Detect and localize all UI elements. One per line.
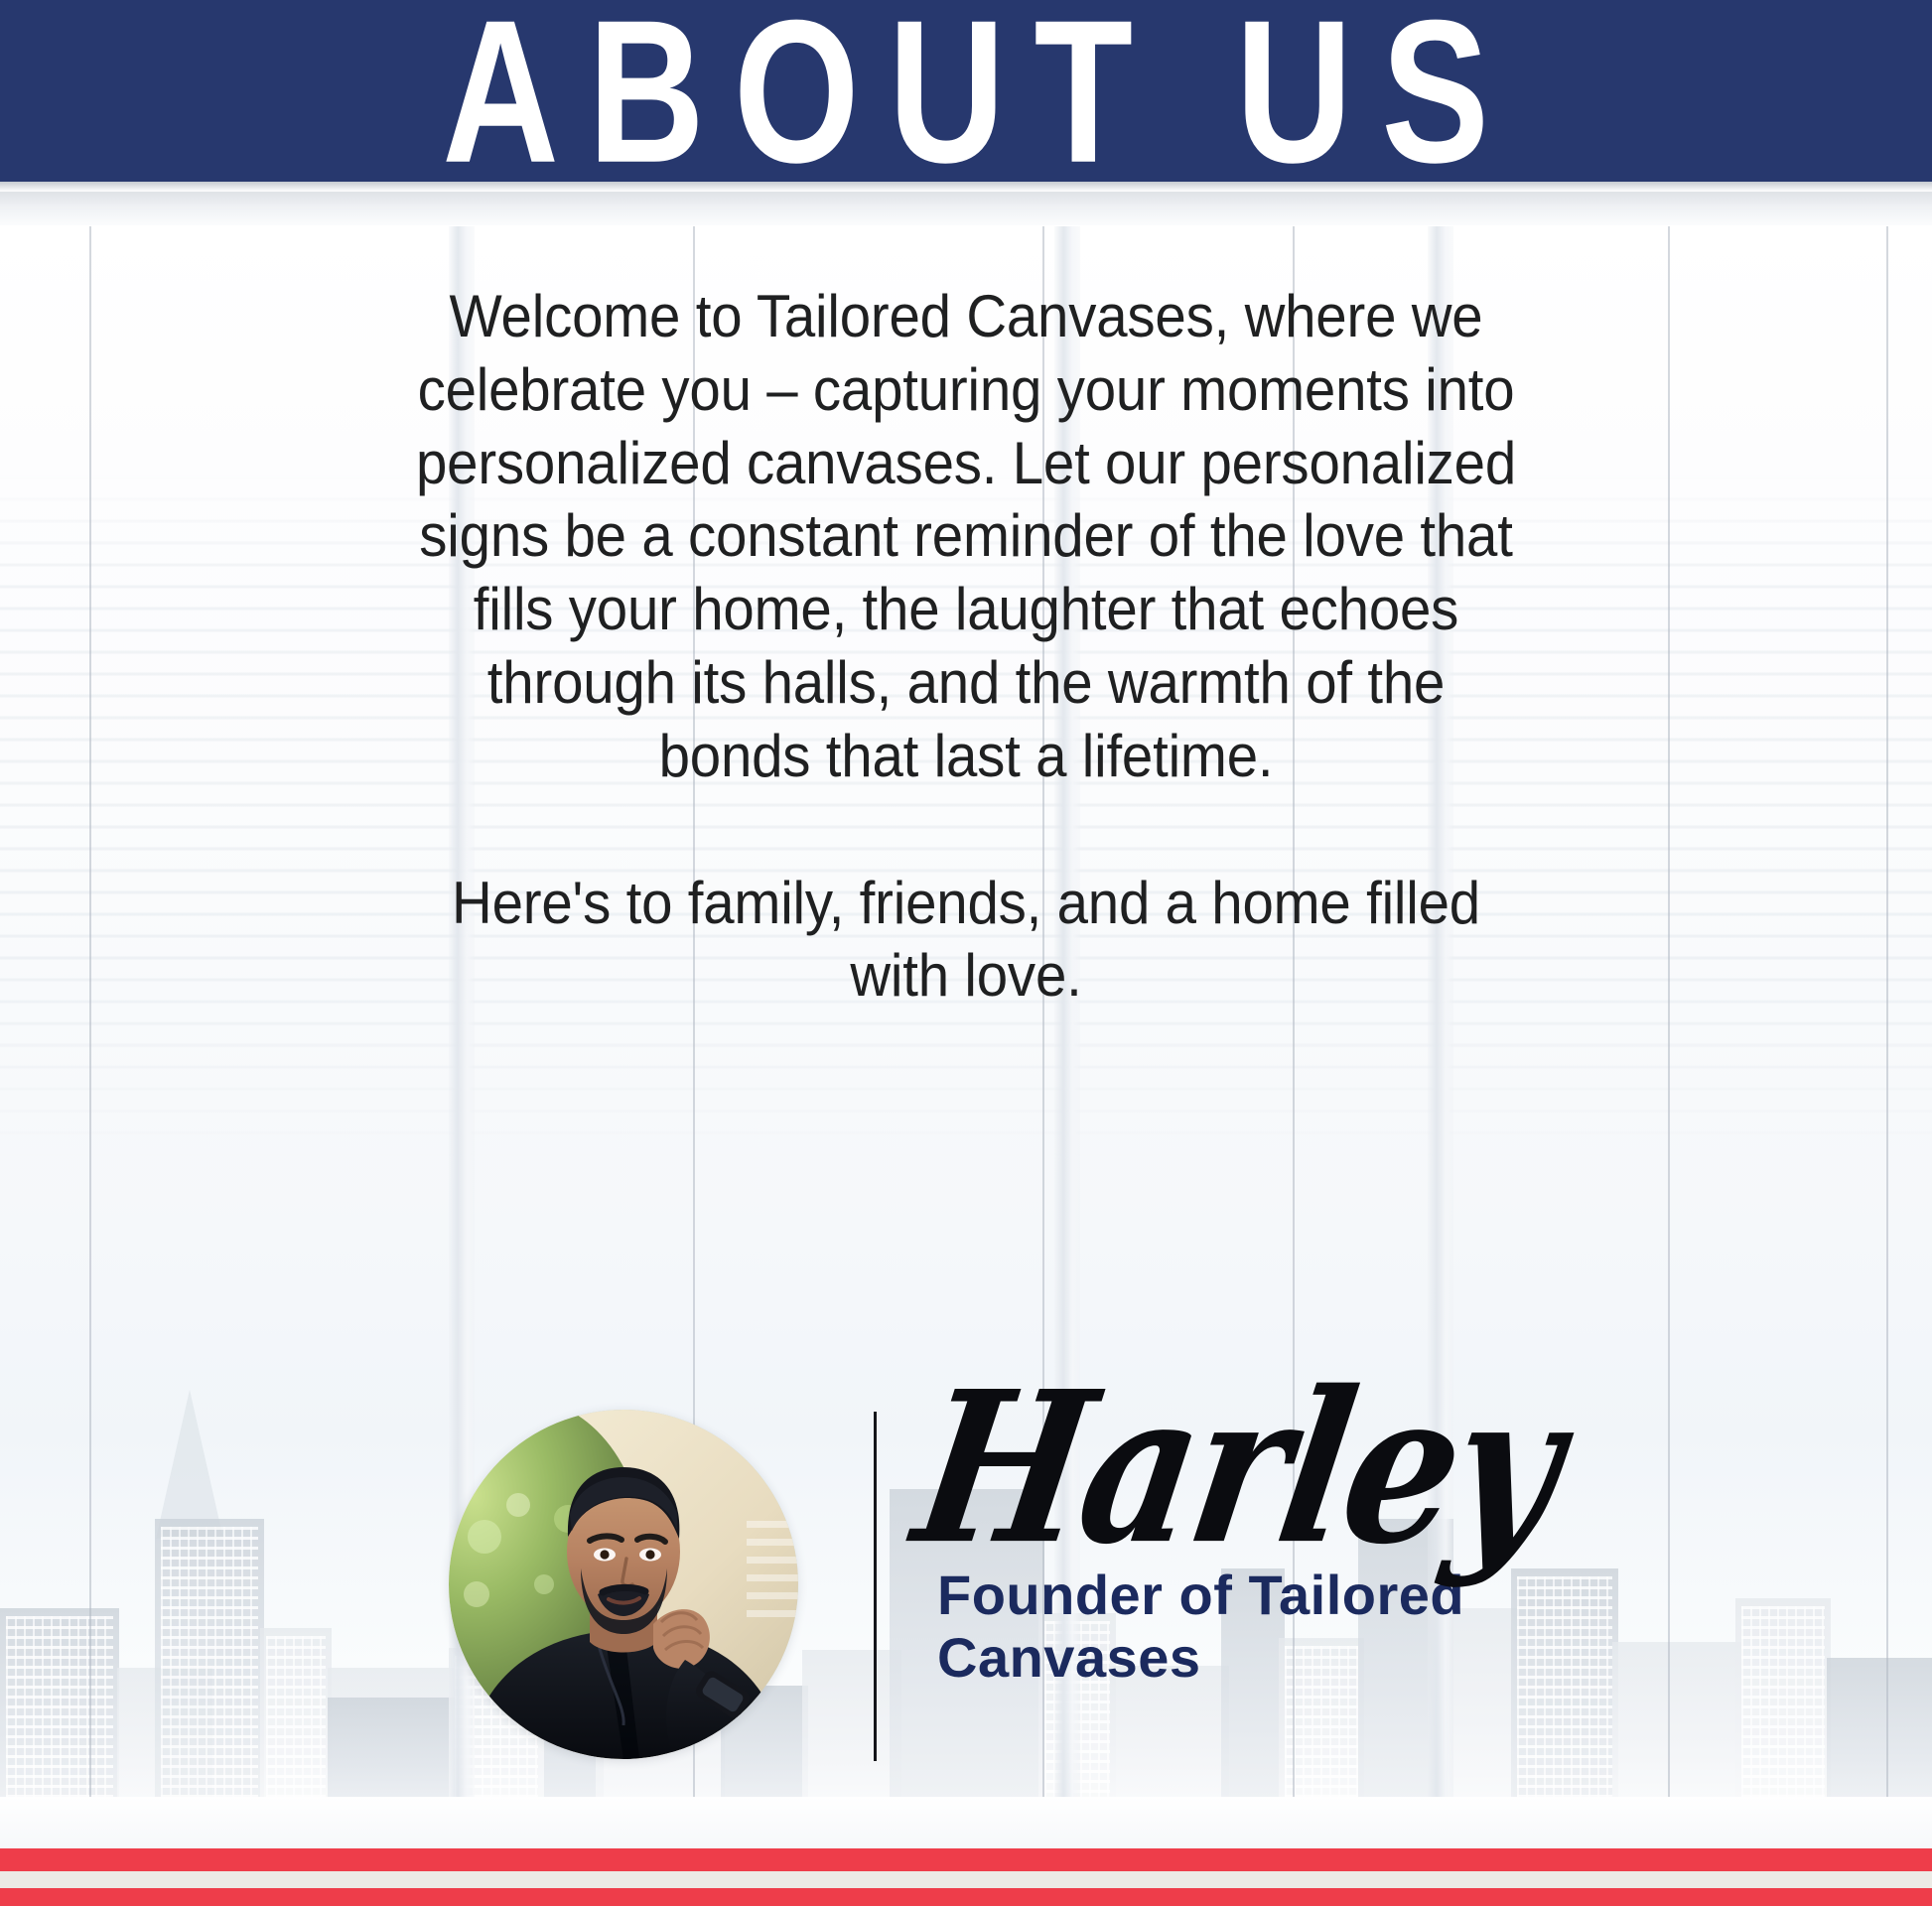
closing-paragraph: Here's to family, friends, and a home fi… xyxy=(415,867,1516,1014)
signature-text-group: Harley Founder of Tailored Canvases xyxy=(911,1380,1626,1689)
founder-signature-block: Harley Founder of Tailored Canvases xyxy=(0,1390,1932,1807)
paragraph-spacer xyxy=(380,793,1552,867)
footer-accent-bar-top xyxy=(0,1848,1932,1871)
page-header-banner: ABOUT US xyxy=(0,0,1932,182)
about-us-copy: Welcome to Tailored Canvases, where we c… xyxy=(380,280,1552,1013)
footer-whitespace xyxy=(0,1797,1932,1848)
about-us-poster: ABOUT US Welcome to Tailored Canvases, w… xyxy=(0,0,1932,1906)
banner-shadow-line xyxy=(0,182,1932,192)
founder-signature: Harley xyxy=(895,1364,1571,1572)
footer-accent-gap xyxy=(0,1871,1932,1888)
signature-divider xyxy=(874,1412,877,1761)
intro-paragraph: Welcome to Tailored Canvases, where we c… xyxy=(415,280,1516,793)
footer-accent-bar-bottom xyxy=(0,1888,1932,1906)
page-title: ABOUT US xyxy=(414,0,1519,193)
avatar xyxy=(449,1410,798,1759)
